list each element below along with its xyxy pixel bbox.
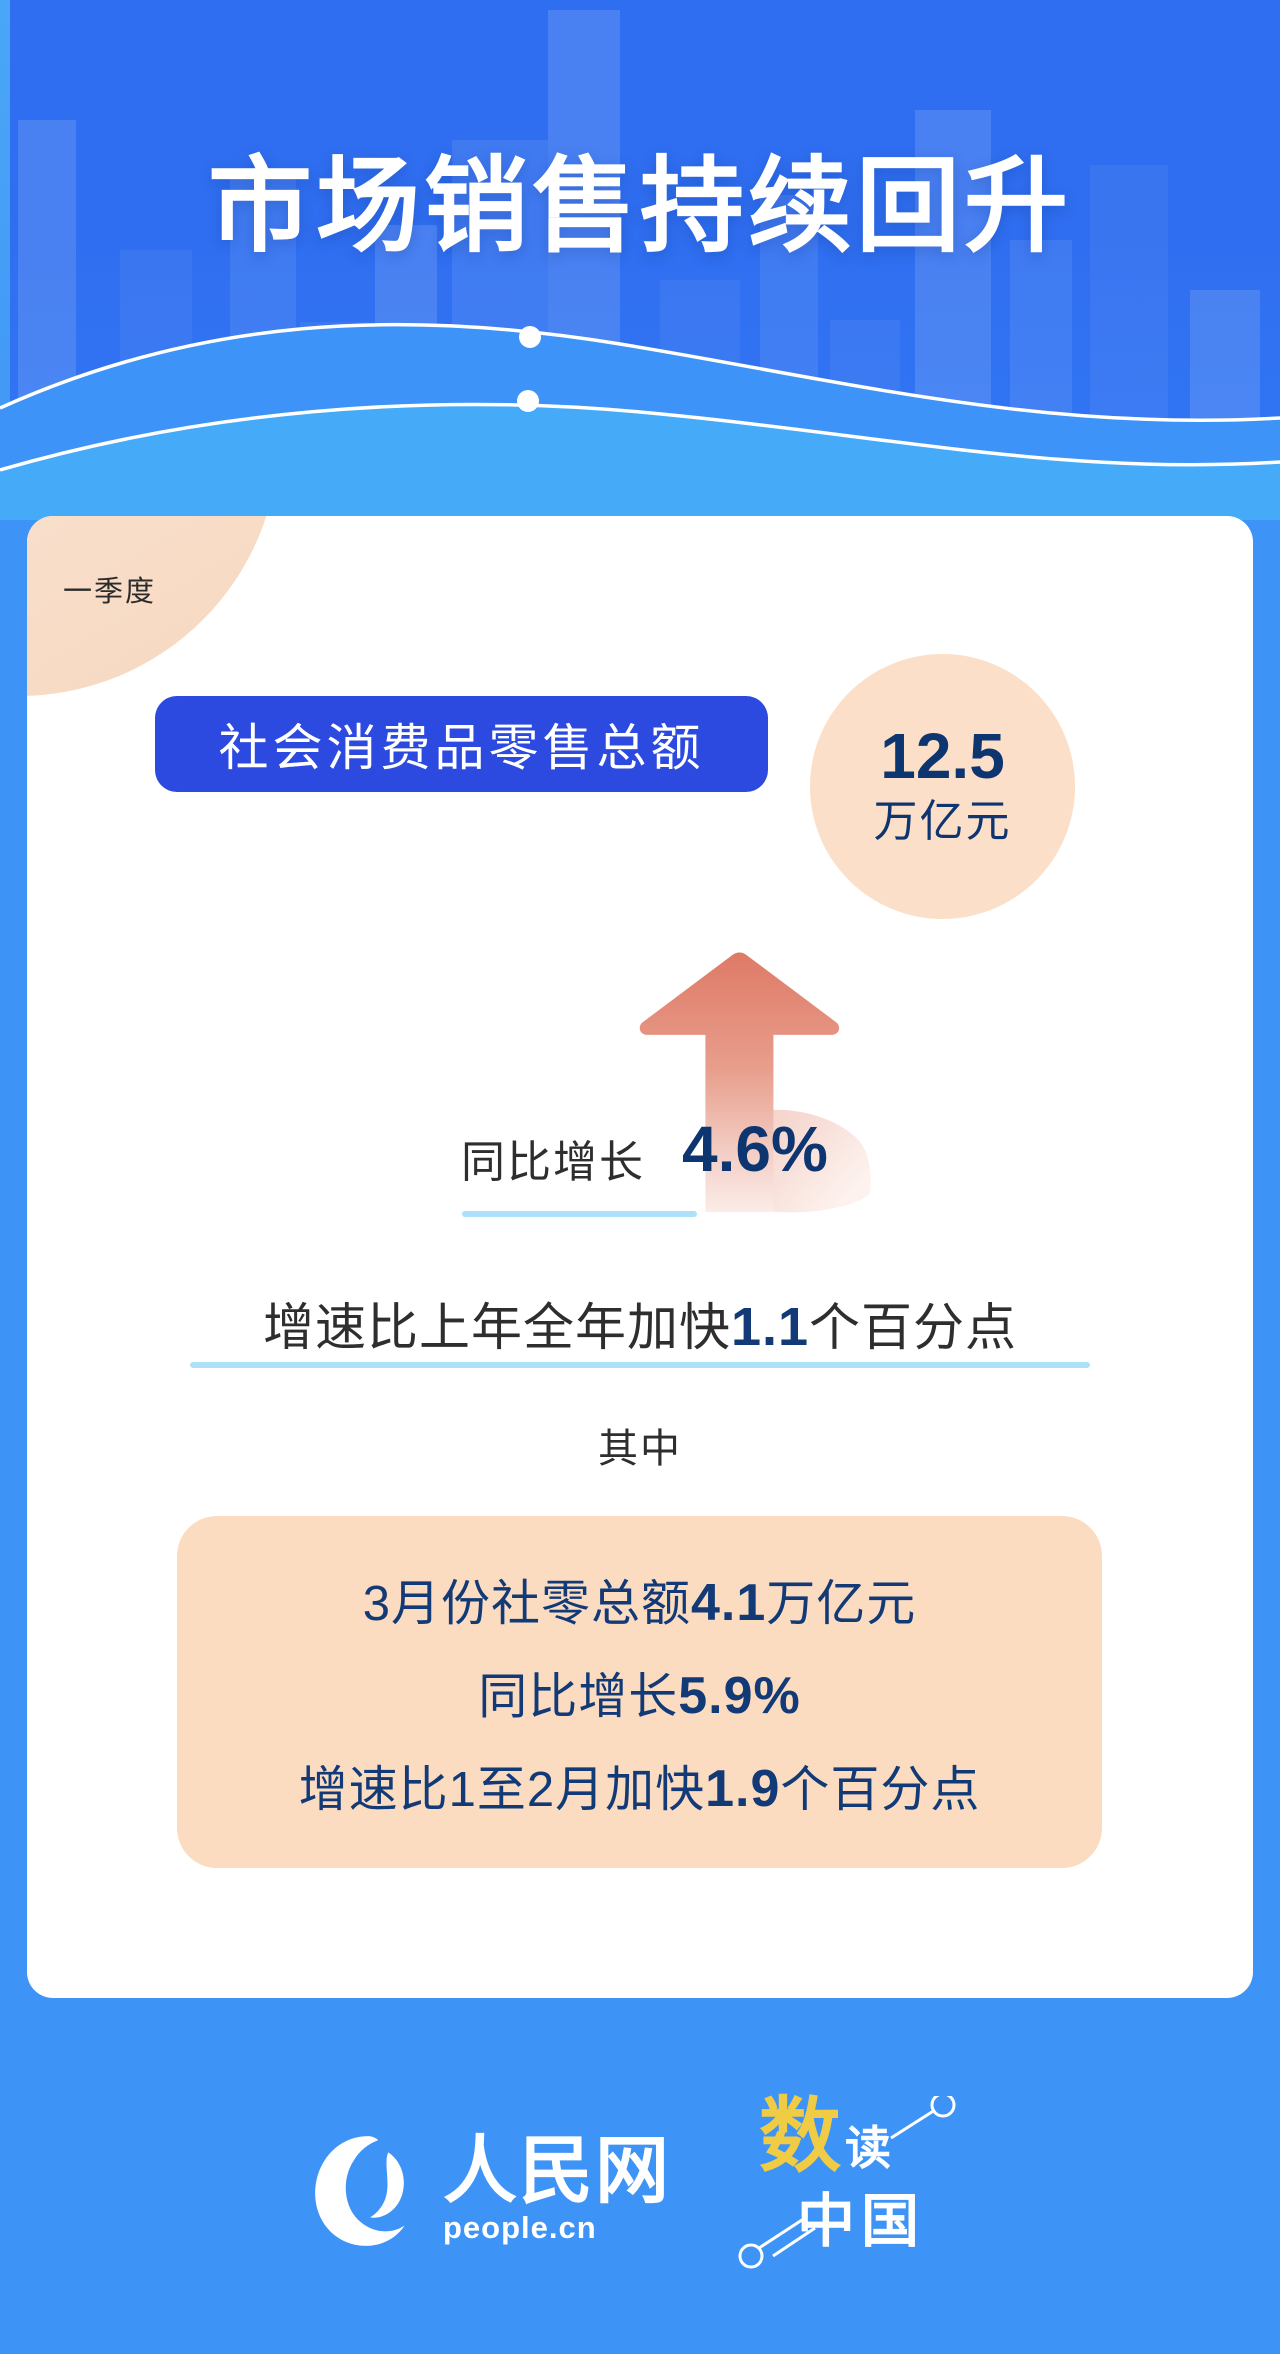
monthly-line-1-prefix: 同比增长 xyxy=(478,1670,678,1724)
up-arrow-icon xyxy=(602,946,902,1246)
people-cn-logo: 人民网 people.cn xyxy=(307,2130,671,2252)
people-cn-wordmark: 人民网 xyxy=(443,2136,671,2206)
metric-unit: 万亿元 xyxy=(874,794,1012,849)
acceleration-prefix: 增速比上年全年加快 xyxy=(263,1299,731,1356)
acceleration-line: 增速比上年全年加快1.1个百分点 xyxy=(27,1286,1253,1360)
monthly-line-2-prefix: 增速比1至2月加快 xyxy=(299,1763,706,1817)
people-emblem-icon xyxy=(307,2130,429,2252)
shudu-num-char: 数 xyxy=(759,2100,841,2174)
primary-metric-row: 社会消费品零售总额 12.5 万亿元 xyxy=(27,654,1253,894)
monthly-line-2-suffix: 个百分点 xyxy=(780,1763,980,1817)
monthly-line-0-value: 4.1 xyxy=(691,1574,766,1632)
shudu-du-char: 读 xyxy=(845,2123,891,2174)
yoy-growth-label: 同比增长 xyxy=(461,1126,645,1190)
monthly-line-0-prefix: 3月份社零总额 xyxy=(363,1577,691,1631)
footer-branding: 人民网 people.cn 数 读 中国 xyxy=(0,2060,1280,2354)
page-title: 市场销售持续回升 xyxy=(0,0,1280,264)
stats-card: 一季度 社会消费品零售总额 12.5 万亿元 xyxy=(27,516,1253,1998)
monthly-detail-line: 3月份社零总额4.1万亿元 xyxy=(363,1564,917,1635)
people-cn-url: people.cn xyxy=(443,2210,597,2246)
metric-value: 12.5 xyxy=(880,724,1005,788)
monthly-detail-line: 增速比1至2月加快1.9个百分点 xyxy=(299,1750,981,1821)
growth-underline xyxy=(462,1211,697,1217)
acceleration-value: 1.1 xyxy=(731,1297,809,1357)
shudu-china-logo: 数 读 中国 xyxy=(723,2096,973,2286)
wave-separator xyxy=(0,300,1280,520)
monthly-line-0-suffix: 万亿元 xyxy=(766,1577,916,1631)
monthly-line-2-value: 1.9 xyxy=(705,1760,780,1818)
monthly-line-1-value: 5.9% xyxy=(678,1667,801,1725)
among-label: 其中 xyxy=(27,1416,1253,1474)
infographic-poster: 市场销售持续回升 一季度 社会消费品零售总额 12.5 万亿元 xyxy=(0,0,1280,2354)
monthly-detail-box: 3月份社零总额4.1万亿元 同比增长5.9% 增速比1至2月加快1.9个百分点 xyxy=(177,1516,1102,1868)
quarter-label: 一季度 xyxy=(63,568,156,610)
header-banner: 市场销售持续回升 xyxy=(0,0,1280,520)
shudu-china-char: 中国 xyxy=(797,2192,925,2250)
metric-value-circle: 12.5 万亿元 xyxy=(810,654,1075,919)
growth-block: 同比增长 4.6% xyxy=(27,946,1253,1246)
monthly-detail-line: 同比增长5.9% xyxy=(478,1657,801,1728)
acceleration-underline xyxy=(190,1362,1090,1368)
acceleration-suffix: 个百分点 xyxy=(809,1299,1017,1356)
yoy-growth-value: 4.6% xyxy=(682,1112,828,1186)
metric-name-pill: 社会消费品零售总额 xyxy=(155,696,768,792)
